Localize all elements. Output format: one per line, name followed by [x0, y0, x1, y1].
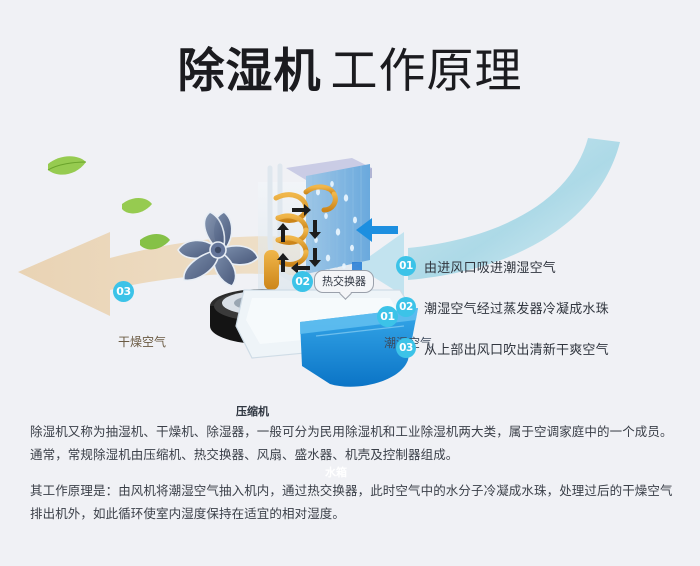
compressor-label: 压缩机 [236, 403, 269, 419]
page-title-primary: 除湿机 [178, 44, 322, 99]
legend-badge-02: 02 [396, 297, 416, 317]
description-block: 除湿机又称为抽湿机、干燥机、除湿器，一般可分为民用除湿机和工业除湿机两大类，属于… [30, 420, 675, 525]
legend-item-01: 01 由进风口吸进潮湿空气 [396, 255, 686, 277]
fan-icon [178, 212, 258, 286]
heat-exchanger-callout: 热交换器 [314, 270, 374, 293]
legend-label-01: 由进风口吸进潮湿空气 [424, 257, 556, 276]
diagram-badge-01: 01 [377, 306, 398, 327]
legend-item-03: 03 从上部出风口吹出清新干爽空气 [396, 337, 686, 359]
legend-list: 01 由进风口吸进潮湿空气 02 潮湿空气经过蒸发器冷凝成水珠 03 从上部出风… [396, 255, 686, 378]
accumulator-icon [264, 250, 279, 290]
page-title: 除湿机工作原理 [0, 32, 700, 101]
description-paragraph-2: 其工作原理是：由风机将潮湿空气抽入机内，通过热交换器，此时空气中的水分子冷凝成水… [30, 479, 675, 525]
legend-badge-03: 03 [396, 338, 416, 358]
legend-item-02: 02 潮湿空气经过蒸发器冷凝成水珠 [396, 296, 686, 318]
diagram-badge-03: 03 [113, 281, 134, 302]
legend-badge-01: 01 [396, 256, 416, 276]
dry-air-label: 干燥空气 [118, 333, 166, 350]
description-paragraph-1: 除湿机又称为抽湿机、干燥机、除湿器，一般可分为民用除湿机和工业除湿机两大类，属于… [30, 420, 675, 466]
legend-label-03: 从上部出风口吹出清新干爽空气 [424, 339, 609, 358]
diagram-badge-02: 02 [292, 271, 313, 292]
paragraph-spacer [30, 466, 675, 479]
page-title-secondary: 工作原理 [331, 44, 523, 99]
legend-label-02: 潮湿空气经过蒸发器冷凝成水珠 [424, 298, 609, 317]
